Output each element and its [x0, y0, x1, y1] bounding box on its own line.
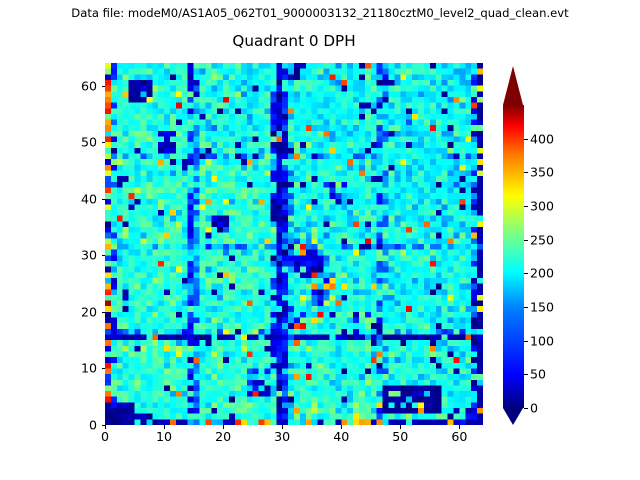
datafile-label: Data file: modeM0/AS1A05_062T01_90000031… — [0, 6, 640, 20]
colorbar-tick-mark — [524, 307, 528, 308]
colorbar-tick-label: 100 — [530, 333, 554, 348]
colorbar-tick-mark — [524, 206, 528, 207]
colorbar-tick-mark — [524, 341, 528, 342]
colorbar-tick-mark — [524, 240, 528, 241]
x-tick-label: 40 — [333, 429, 349, 444]
x-tick-label: 0 — [101, 429, 109, 444]
y-tick-mark — [102, 312, 106, 313]
x-tick-label: 50 — [392, 429, 408, 444]
x-tick-mark — [400, 425, 401, 429]
colorbar-tick-mark — [524, 273, 528, 274]
colorbar-tick-label: 350 — [530, 165, 554, 180]
y-tick-label: 60 — [59, 78, 97, 93]
x-tick-mark — [282, 425, 283, 429]
y-tick-label: 40 — [59, 191, 97, 206]
colorbar-tick-label: 150 — [530, 300, 554, 315]
y-tick-label: 20 — [59, 304, 97, 319]
y-tick-mark — [102, 199, 106, 200]
colorbar-extend-arrow-bottom — [503, 408, 523, 425]
y-tick-mark — [102, 86, 106, 87]
y-tick-mark — [102, 142, 106, 143]
colorbar-tick-label: 300 — [530, 199, 554, 214]
colorbar-tick-label: 50 — [530, 367, 546, 382]
y-tick-label: 50 — [59, 135, 97, 150]
y-tick-mark — [102, 255, 106, 256]
heatmap-image[interactable] — [105, 63, 483, 425]
x-tick-label: 30 — [274, 429, 290, 444]
page-title: Quadrant 0 DPH — [105, 32, 483, 50]
colorbar-tick-label: 0 — [530, 401, 538, 416]
colorbar-tick-mark — [524, 408, 528, 409]
colorbar-gradient-body — [503, 105, 524, 408]
colorbar-tick-label: 250 — [530, 232, 554, 247]
x-tick-label: 20 — [215, 429, 231, 444]
x-tick-mark — [223, 425, 224, 429]
figure-canvas: Data file: modeM0/AS1A05_062T01_90000031… — [0, 0, 640, 480]
x-tick-label: 10 — [156, 429, 172, 444]
colorbar-tick-label: 400 — [530, 131, 554, 146]
x-tick-mark — [341, 425, 342, 429]
colorbar[interactable] — [503, 63, 524, 425]
x-tick-mark — [459, 425, 460, 429]
y-tick-label: 0 — [59, 418, 97, 433]
colorbar-tick-mark — [524, 172, 528, 173]
x-tick-mark — [105, 425, 106, 429]
colorbar-gradient — [503, 105, 524, 408]
colorbar-tick-mark — [524, 374, 528, 375]
y-tick-mark — [102, 425, 106, 426]
x-tick-label: 60 — [451, 429, 467, 444]
x-tick-mark — [164, 425, 165, 429]
y-tick-label: 10 — [59, 361, 97, 376]
heatmap-axes[interactable] — [105, 63, 483, 425]
y-tick-label: 30 — [59, 248, 97, 263]
colorbar-extend-arrow-top — [503, 66, 523, 105]
colorbar-tick-mark — [524, 139, 528, 140]
y-tick-mark — [102, 368, 106, 369]
colorbar-tick-label: 200 — [530, 266, 554, 281]
